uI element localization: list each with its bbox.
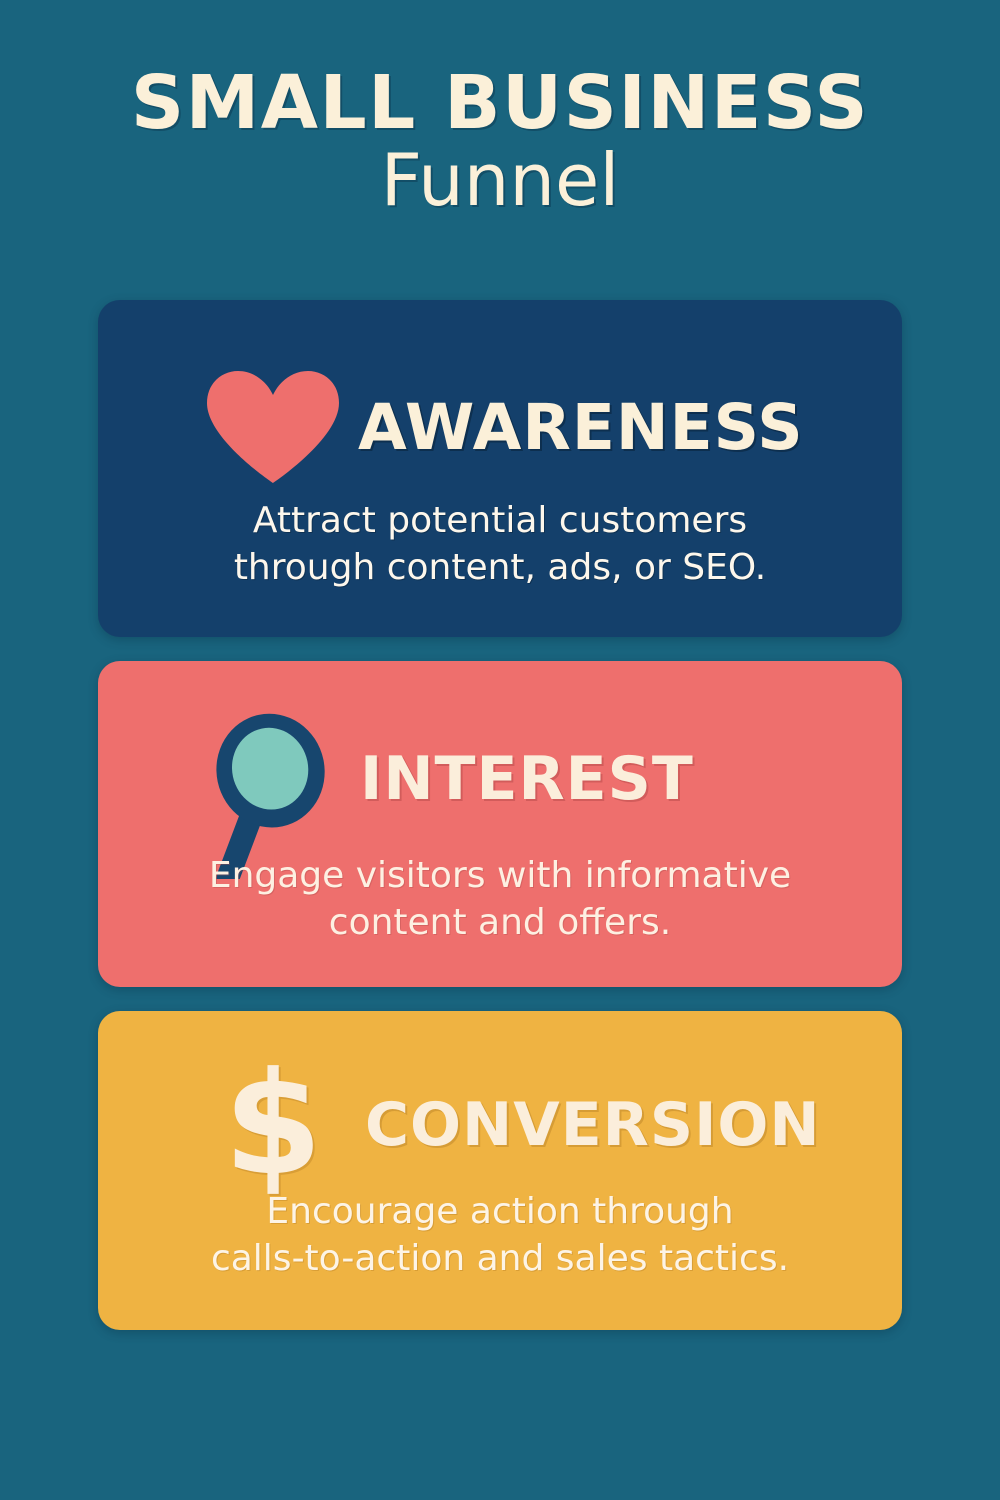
awareness-header-row: AWARENESS bbox=[98, 368, 902, 486]
heart-icon bbox=[198, 368, 348, 486]
interest-heading: INTEREST bbox=[360, 744, 694, 814]
conversion-body-line-2: calls-to-action and sales tactics. bbox=[98, 1236, 902, 1283]
interest-body-line-2: content and offers. bbox=[98, 900, 902, 947]
infographic-poster: SMALL BUSINESS Funnel AWARENESS Attract … bbox=[0, 0, 1000, 1500]
awareness-body: Attract potential customers through cont… bbox=[98, 498, 902, 592]
awareness-body-line-1: Attract potential customers bbox=[98, 498, 902, 545]
title-line-secondary: Funnel bbox=[0, 140, 1000, 221]
conversion-body-line-1: Encourage action through bbox=[98, 1189, 902, 1236]
dollar-sign-glyph: $ bbox=[224, 1054, 323, 1196]
stage-card-interest: INTEREST Engage visitors with informativ… bbox=[98, 661, 902, 987]
conversion-body: Encourage action through calls-to-action… bbox=[98, 1189, 902, 1283]
stage-card-awareness: AWARENESS Attract potential customers th… bbox=[98, 300, 902, 637]
poster-title: SMALL BUSINESS Funnel bbox=[0, 66, 1000, 221]
title-line-primary: SMALL BUSINESS bbox=[0, 66, 1000, 140]
awareness-heading: AWARENESS bbox=[358, 391, 804, 464]
interest-body: Engage visitors with informative content… bbox=[98, 853, 902, 947]
interest-body-line-1: Engage visitors with informative bbox=[98, 853, 902, 900]
dollar-sign-icon: $ bbox=[203, 1055, 343, 1195]
awareness-body-line-2: through content, ads, or SEO. bbox=[98, 545, 902, 592]
stage-card-conversion: $ CONVERSION Encourage action through ca… bbox=[98, 1011, 902, 1330]
conversion-heading: CONVERSION bbox=[365, 1090, 821, 1160]
conversion-header-row: $ CONVERSION bbox=[98, 1055, 902, 1195]
